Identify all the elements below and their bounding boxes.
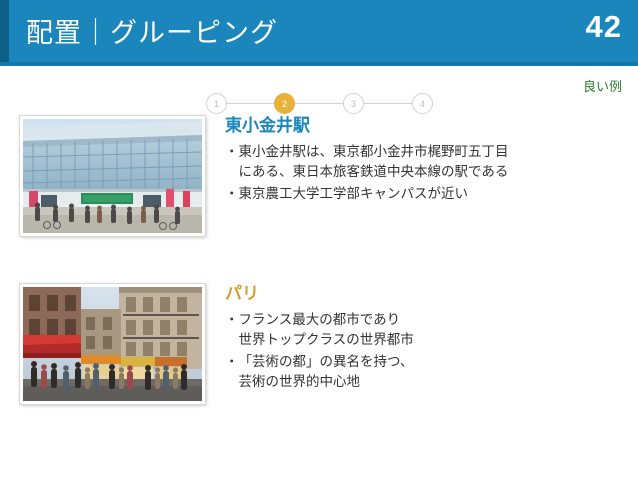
good-example-label: 良い例 [583, 76, 622, 95]
content-block-2-bullet-1: ・フランス最大の都市であり 世界トップクラスの世界都市 [225, 310, 635, 350]
bullet-text: 「芸術の都」の異名を持つ、 芸術の世界的中心地 [239, 352, 414, 392]
bullet-text: 東京農工大学工学部キャンパスが近い [239, 184, 469, 204]
step-connector-line [217, 103, 423, 104]
content-block-2-text: パリ ・フランス最大の都市であり 世界トップクラスの世界都市 ・「芸術の都」の異… [225, 284, 635, 394]
content-block-1-bullet-2: ・東京農工大学工学部キャンパスが近い [225, 184, 635, 204]
bullet-text: フランス最大の都市であり 世界トップクラスの世界都市 [239, 310, 414, 350]
step-item-2[interactable]: 2 [274, 93, 295, 114]
content-block-2-title: パリ [225, 284, 635, 304]
slide-header: 配置｜グルーピング 42 [0, 0, 638, 62]
step-item-1[interactable]: 1 [206, 93, 227, 114]
bullet-text: 東小金井駅は、東京都小金井市梶野町五丁目 にある、東日本旅客鉄道中央本線の駅であ… [239, 142, 509, 182]
step-item-4[interactable]: 4 [412, 93, 433, 114]
content-block-2-bullet-2: ・「芸術の都」の異名を持つ、 芸術の世界的中心地 [225, 352, 635, 392]
content-block-1-title: 東小金井駅 [225, 116, 635, 136]
page-title: 配置｜グルーピング [26, 11, 278, 50]
header-underline [0, 62, 638, 66]
step-indicator: 1 2 3 4 [206, 93, 434, 115]
bullet-mark: ・ [225, 354, 239, 369]
bullet-mark: ・ [225, 312, 239, 327]
step-item-3[interactable]: 3 [343, 93, 364, 114]
paris-street-photo [20, 284, 205, 404]
header-accent-bar [0, 0, 9, 62]
slide: 配置｜グルーピング 42 良い例 1 2 3 4 [0, 0, 638, 479]
content-block-1-bullet-1: ・東小金井駅は、東京都小金井市梶野町五丁目 にある、東日本旅客鉄道中央本線の駅で… [225, 142, 635, 182]
higashi-koganei-station-photo [20, 116, 205, 236]
bullet-mark: ・ [225, 186, 239, 201]
bullet-mark: ・ [225, 144, 239, 159]
page-number: 42 [586, 9, 622, 45]
content-block-1-text: 東小金井駅 ・東小金井駅は、東京都小金井市梶野町五丁目 にある、東日本旅客鉄道中… [225, 116, 635, 206]
